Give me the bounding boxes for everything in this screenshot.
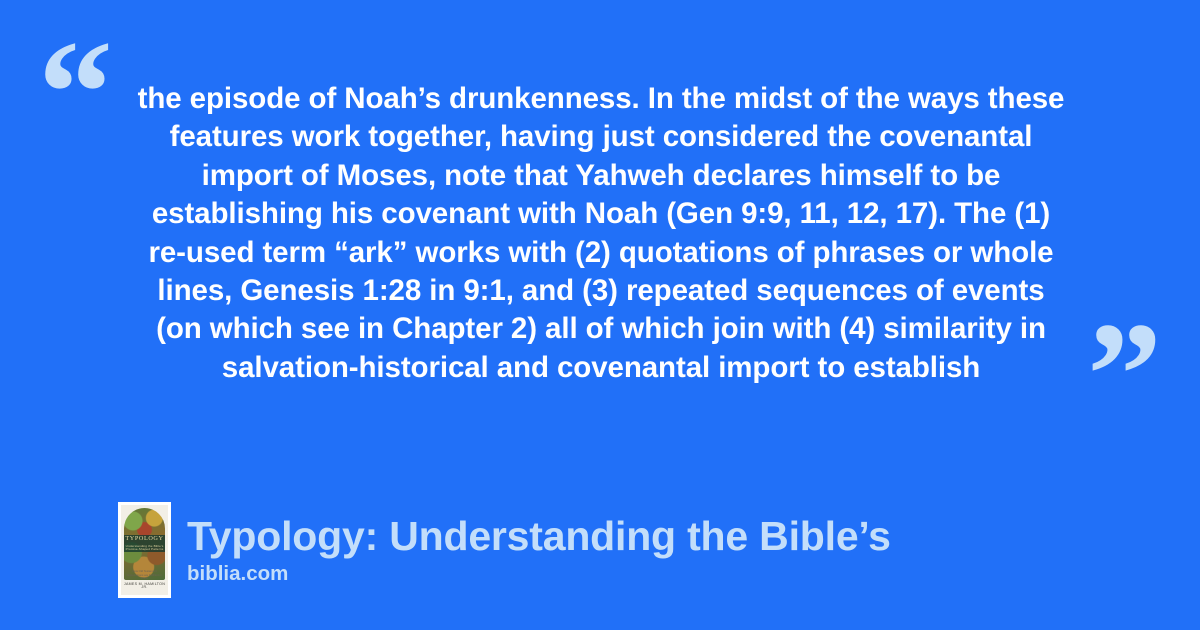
quote-line: re-used term “ark” works with (2) quotat… — [118, 234, 1084, 272]
quote-line: establishing his covenant with Noah (Gen… — [118, 195, 1084, 233]
quote-line: (on which see in Chapter 2) all of which… — [118, 310, 1084, 348]
quote-line: import of Moses, note that Yahweh declar… — [118, 157, 1084, 195]
quote-line: salvation-historical and covenantal impo… — [118, 349, 1084, 387]
quote-open-icon: “ — [38, 18, 113, 168]
book-title: Typology: Understanding the Bible’s — [187, 514, 891, 558]
footer: TYPOLOGY Understanding the Bible’s Promi… — [118, 502, 891, 598]
quote-line: the episode of Noah’s drunkenness. In th… — [118, 80, 1084, 118]
site-name: biblia.com — [187, 562, 891, 587]
quote-card: “ the episode of Noah’s drunkenness. In … — [0, 0, 1200, 630]
footer-text: Typology: Understanding the Bible’s bibl… — [187, 514, 891, 587]
quote-text: the episode of Noah’s drunkenness. In th… — [118, 80, 1084, 387]
quote-line: lines, Genesis 1:28 in 9:1, and (3) repe… — [118, 272, 1084, 310]
book-cover-thumbnail: TYPOLOGY Understanding the Bible’s Promi… — [118, 502, 171, 598]
quote-close-icon: ” — [1087, 300, 1162, 450]
quote-line: features work together, having just cons… — [118, 118, 1084, 156]
book-cover-title: TYPOLOGY — [121, 536, 168, 542]
book-cover-blurb: How Old Testament Expectations are Fulfi… — [125, 570, 164, 581]
book-cover-subtitle: Understanding the Bible’s Promise-Shaped… — [123, 545, 166, 553]
book-cover-author: JAMES M. HAMILTON JR. — [121, 583, 168, 590]
